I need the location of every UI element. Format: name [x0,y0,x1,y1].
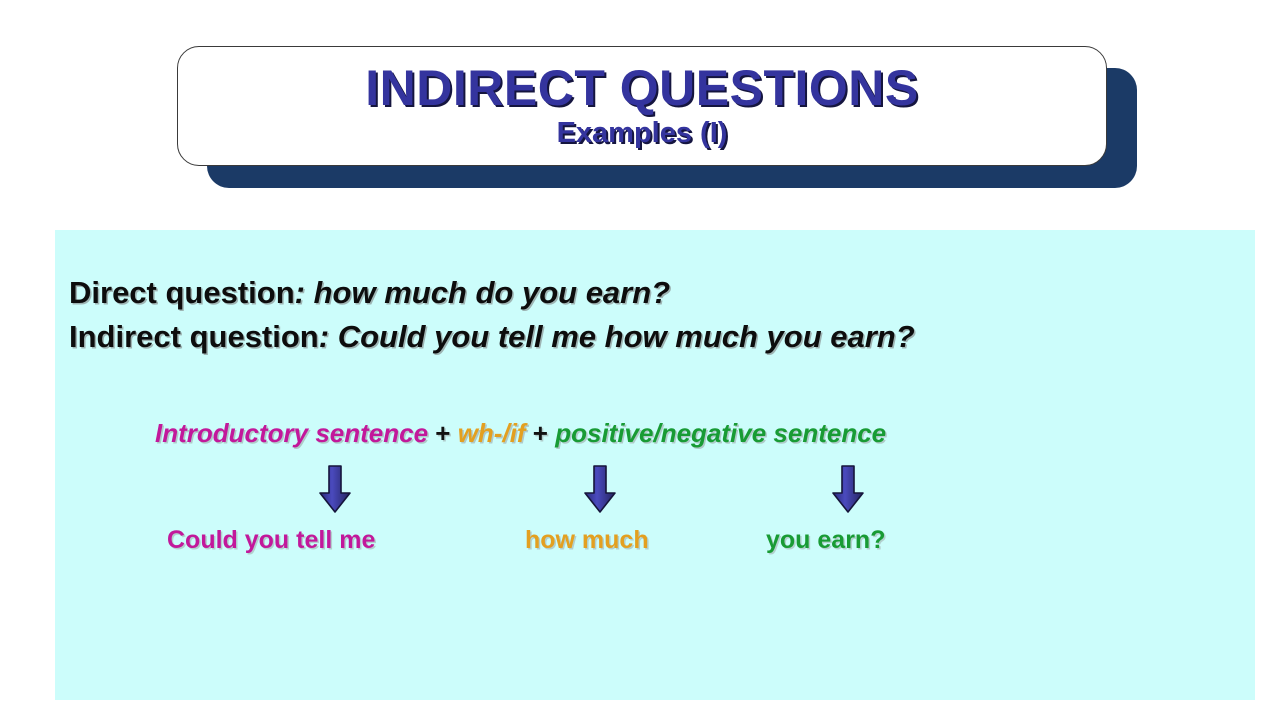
content-panel: Direct question: how much do you earn? I… [55,230,1255,700]
direct-question-line: Direct question: how much do you earn? [69,275,670,311]
indirect-question-label: Indirect question [69,319,319,354]
indirect-question-separator: : [319,319,338,354]
breakdown-word-clause: you earn? [766,526,885,555]
title-banner: INDIRECT QUESTIONS Examples (I) [177,46,1107,166]
page-title: INDIRECT QUESTIONS [365,62,918,114]
breakdown-word-wh: how much [525,526,649,555]
direct-question-value: how much do you earn? [314,275,671,310]
direct-question-separator: : [295,275,314,310]
arrow-down-icon [318,465,352,513]
page-subtitle: Examples (I) [557,118,728,150]
breakdown-word-introductory: Could you tell me [167,526,375,555]
formula-plus-2: + [526,418,556,448]
direct-question-label: Direct question [69,275,295,310]
formula-part-introductory: Introductory sentence [155,418,428,448]
arrow-down-icon [831,465,865,513]
formula-part-positive-negative: positive/negative sentence [555,418,886,448]
indirect-question-line: Indirect question: Could you tell me how… [69,319,915,355]
formula-plus-1: + [428,418,458,448]
indirect-question-value: Could you tell me how much you earn? [338,319,915,354]
formula-row: Introductory sentence + wh-/if + positiv… [155,418,886,449]
formula-part-wh-if: wh-/if [458,418,526,448]
title-banner-box: INDIRECT QUESTIONS Examples (I) [177,46,1107,166]
arrow-down-icon [583,465,617,513]
